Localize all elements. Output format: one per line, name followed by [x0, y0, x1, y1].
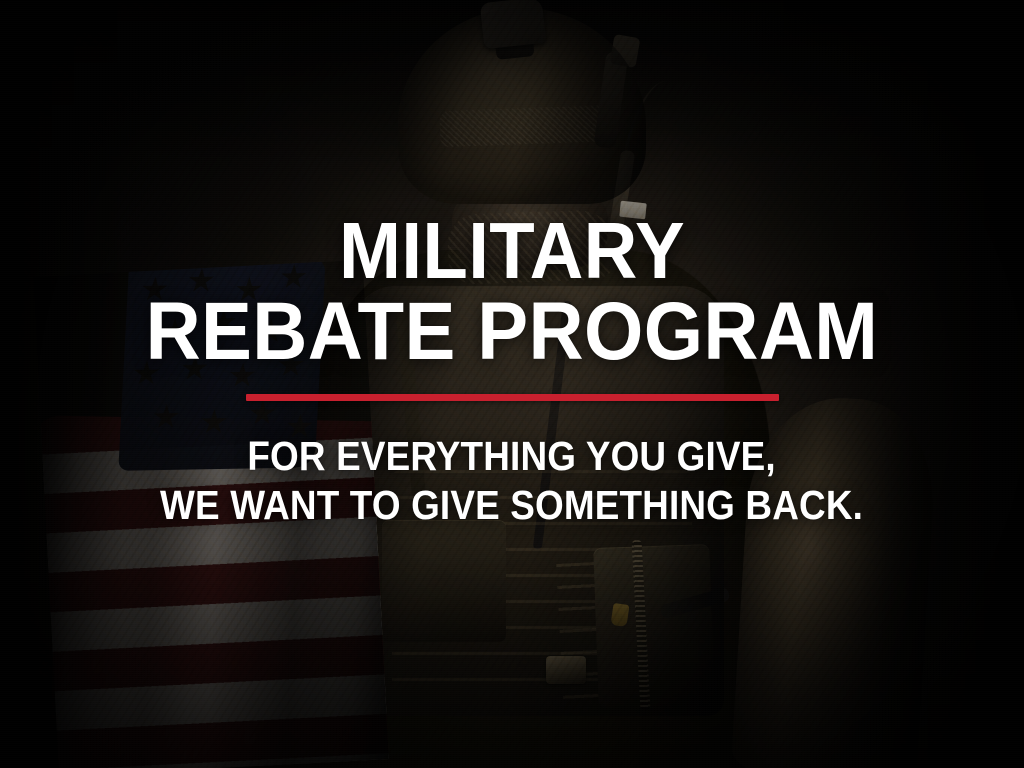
headline-line-2: REBATE PROGRAM — [146, 294, 879, 370]
military-rebate-banner: MILITARY REBATE PROGRAM FOR EVERYTHING Y… — [0, 0, 1024, 768]
background-photo — [0, 0, 1024, 768]
red-divider-rule — [246, 394, 779, 401]
photo-grain — [0, 0, 1024, 768]
headline-line-1: MILITARY — [339, 214, 685, 288]
subheadline-line-2: WE WANT TO GIVE SOMETHING BACK. — [161, 482, 864, 529]
subheadline-line-1: FOR EVERYTHING YOU GIVE, — [248, 433, 776, 480]
